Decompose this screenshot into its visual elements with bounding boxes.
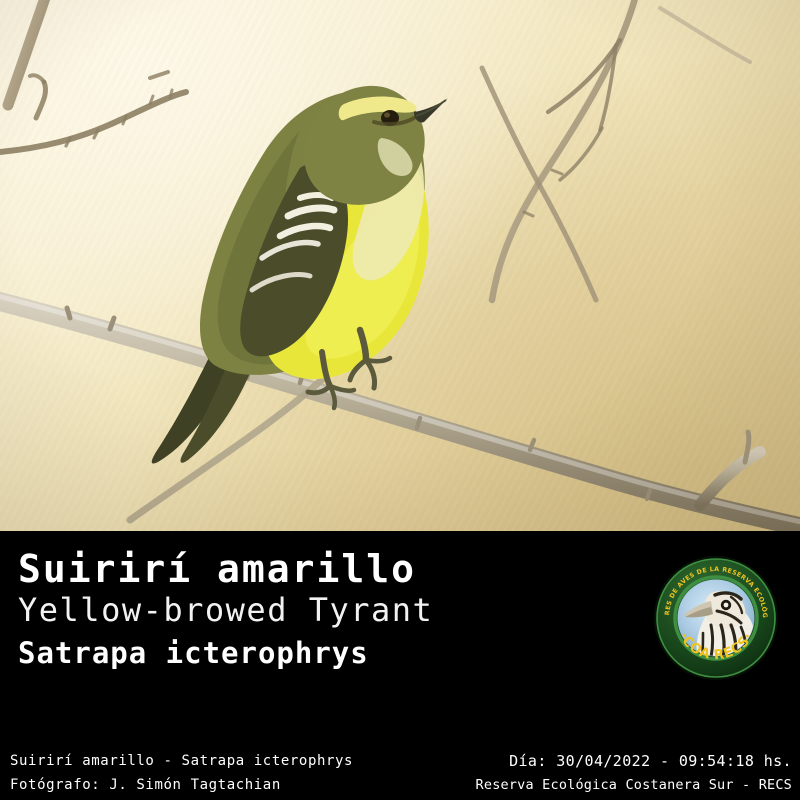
photo-vignette (0, 0, 800, 531)
bird-photograph (0, 0, 800, 531)
footer-location-line: Reserva Ecológica Costanera Sur - RECS (476, 777, 792, 793)
photo-caption-card: Suirirí amarillo Yellow-browed Tyrant Sa… (0, 0, 800, 800)
species-name-scientific: Satrapa icterophrys (18, 636, 369, 670)
species-name-english: Yellow-browed Tyrant (18, 591, 433, 629)
footer-photographer-line: Fotógrafo: J. Simón Tagtachian (10, 777, 281, 793)
footer-species-line: Suirirí amarillo - Satrapa icterophrys (10, 753, 353, 769)
species-name-spanish: Suirirí amarillo (18, 547, 416, 591)
coa-recs-logo: CLUB DE OBSERVADORES DE AVES DE LA RESER… (653, 555, 779, 681)
footer-datetime-line: Día: 30/04/2022 - 09:54:18 hs. (509, 752, 792, 770)
